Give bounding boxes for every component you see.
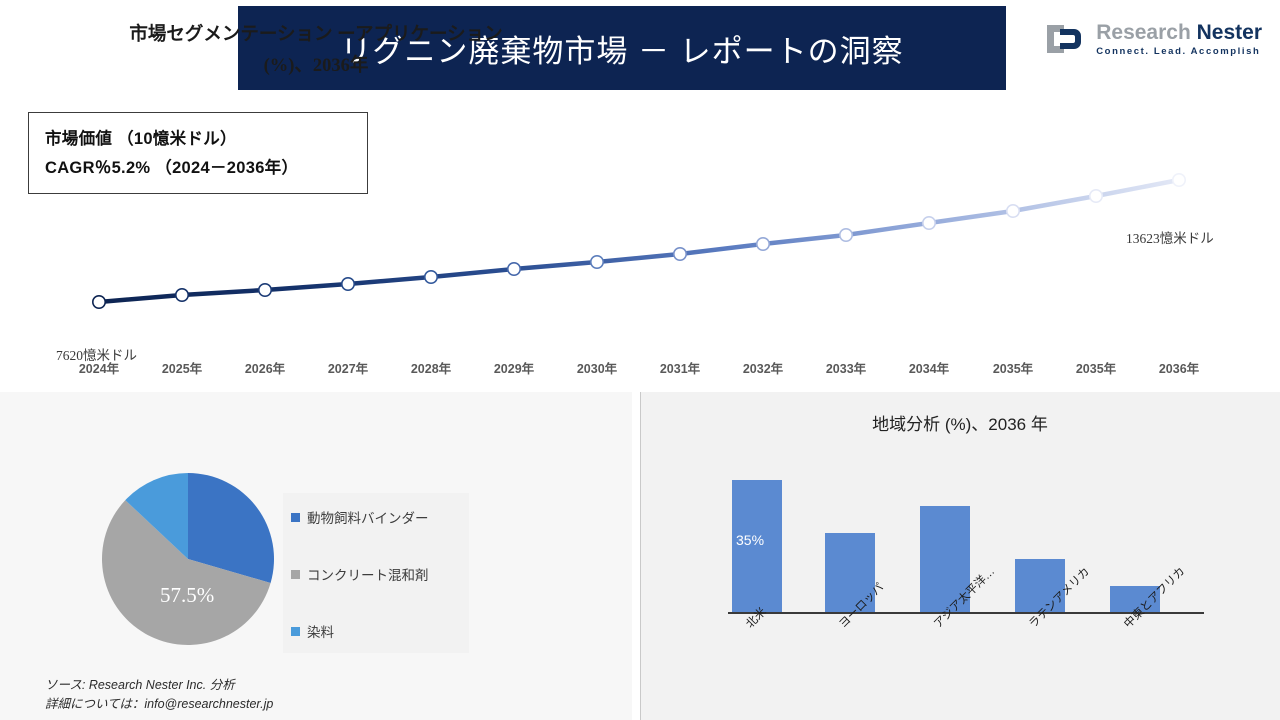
line-chart-svg: [0, 96, 1280, 386]
legend-swatch-icon: [291, 513, 300, 522]
x-axis-tick-label: 2030年: [577, 358, 617, 377]
x-axis-tick-label: 2026年: [245, 358, 285, 377]
line-data-point: [840, 229, 852, 241]
segmentation-pie-chart: [100, 472, 290, 647]
legend-item-2[interactable]: 染料: [291, 621, 469, 641]
brand-logo: Research Nester Connect. Lead. Accomplis…: [1044, 22, 1262, 57]
market-value-line-chart: 7620憶米ドル 13623憶米ドル: [0, 96, 1280, 386]
line-data-point: [508, 263, 520, 275]
research-nester-logo-icon: [1044, 22, 1088, 56]
x-axis-tick-label: 2035年: [993, 358, 1033, 377]
line-data-point: [674, 248, 686, 260]
x-axis-tick-label: 2027年: [328, 358, 368, 377]
pie-chart-title: 市場セグメンテーション ーアプリケーション (%)、2036年: [0, 20, 632, 81]
x-axis-tick-label: 2035年: [1076, 358, 1116, 377]
x-axis-tick-label: 2032年: [743, 358, 783, 377]
x-axis-tick-label: 2029年: [494, 358, 534, 377]
line-data-point: [425, 271, 437, 283]
line-data-point: [1007, 205, 1019, 217]
bar-value-label: 35%: [736, 532, 764, 548]
legend-item-1[interactable]: コンクリート混和剤: [291, 564, 469, 584]
legend-item-0[interactable]: 動物飼料バインダー: [291, 507, 469, 527]
line-data-point: [1173, 174, 1185, 186]
logo-name: Research Nester: [1096, 22, 1262, 43]
line-data-point: [757, 238, 769, 250]
regional-bar-chart: 35%北米ヨーロッパアジア太平洋…ラテンアメリカ中東とアフリカ: [640, 392, 1280, 720]
x-axis-tick-label: 2036年: [1159, 358, 1199, 377]
pie-chart-legend: 動物飼料バインダー コンクリート混和剤 染料: [283, 493, 469, 653]
source-note: ソース: Research Nester Inc. 分析 詳細については：inf…: [45, 676, 273, 715]
legend-swatch-icon: [291, 570, 300, 579]
line-data-point: [1090, 190, 1102, 202]
line-data-point: [342, 278, 354, 290]
legend-label: コンクリート混和剤: [307, 564, 429, 584]
x-axis-tick-label: 2024年: [79, 358, 119, 377]
line-data-point: [93, 296, 105, 308]
logo-tagline: Connect. Lead. Accomplish: [1096, 47, 1262, 57]
x-axis-tick-label: 2028年: [411, 358, 451, 377]
line-end-value-label: 13623憶米ドル: [1126, 227, 1214, 247]
source-line-1: ソース: Research Nester Inc. 分析: [45, 676, 273, 695]
logo-wordmark: Research Nester Connect. Lead. Accomplis…: [1096, 22, 1262, 57]
x-axis-tick-label: 2033年: [826, 358, 866, 377]
x-axis-tick-label: 2025年: [162, 358, 202, 377]
legend-swatch-icon: [291, 627, 300, 636]
line-data-point: [176, 289, 188, 301]
pie-chart-svg: [100, 472, 290, 647]
line-chart-x-axis: 2024年2025年2026年2027年2028年2029年2030年2031年…: [0, 358, 1280, 382]
legend-label: 動物飼料バインダー: [307, 507, 429, 527]
x-axis-tick-label: 2034年: [909, 358, 949, 377]
pie-slice-label-concrete: 57.5%: [160, 583, 214, 608]
x-axis-tick-label: 2031年: [660, 358, 700, 377]
line-data-point: [259, 284, 271, 296]
line-data-point: [923, 217, 935, 229]
source-line-2: 詳細については：info@researchnester.jp: [45, 695, 273, 714]
infographic-root: リグニン廃棄物市場 － レポートの洞察 Research Nester Conn…: [0, 0, 1280, 720]
legend-label: 染料: [307, 621, 334, 641]
line-data-point: [591, 256, 603, 268]
